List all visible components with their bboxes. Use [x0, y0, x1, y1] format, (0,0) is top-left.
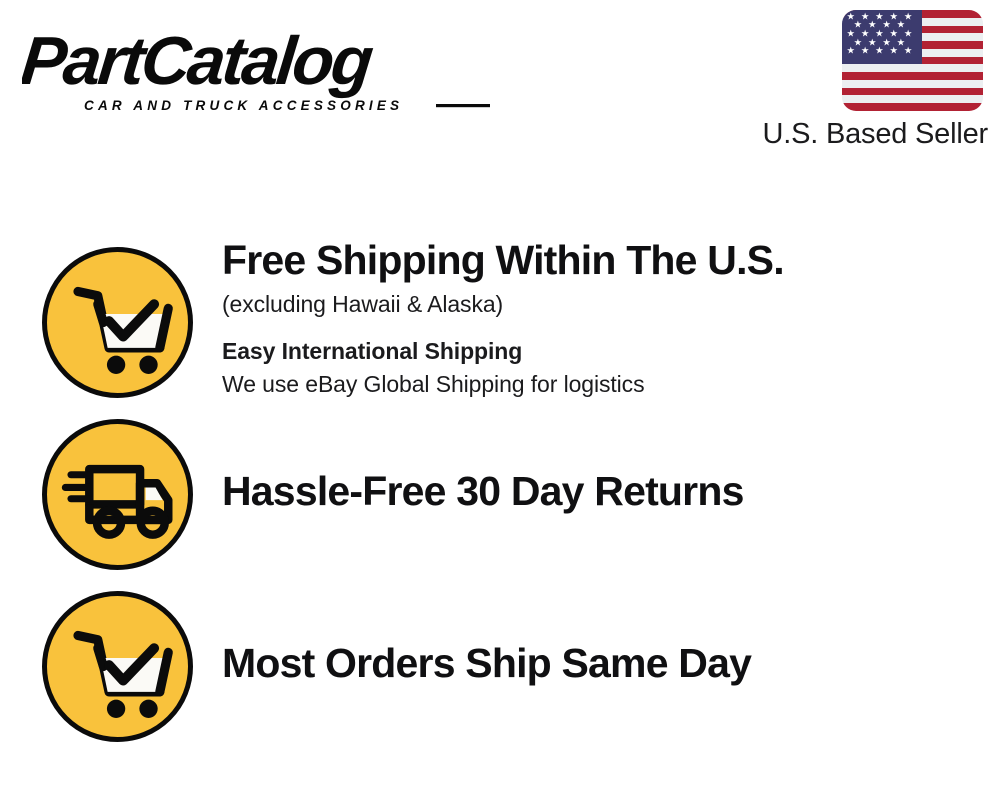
feature-text-block: Hassle-Free 30 Day Returns: [222, 419, 992, 513]
flag-stars: ★★ ★★ ★ ★★ ★★ ★★ ★★ ★ ★★ ★★ ★★ ★★ ★: [842, 10, 922, 64]
us-flag-icon: ★★ ★★ ★ ★★ ★★ ★★ ★★ ★ ★★ ★★ ★★ ★★ ★: [842, 10, 983, 111]
feature-headline: Free Shipping Within The U.S.: [222, 238, 992, 282]
promo-banner: PartCatalog CAR AND TRUCK ACCESSORIES ★★…: [0, 0, 1000, 800]
svg-text:PartCatalog: PartCatalog: [22, 23, 376, 99]
delivery-truck-icon: [42, 419, 193, 570]
intl-shipping-title: Easy International Shipping: [222, 337, 992, 366]
feature-subnote: (excluding Hawaii & Alaska): [222, 290, 992, 319]
seller-note: U.S. Based Seller: [720, 118, 988, 151]
intl-shipping-desc: We use eBay Global Shipping for logistic…: [222, 370, 992, 399]
svg-text:CAR AND TRUCK ACCESSORIES: CAR AND TRUCK ACCESSORIES: [84, 98, 403, 113]
feature-headline: Most Orders Ship Same Day: [222, 641, 992, 685]
feature-text-block: Free Shipping Within The U.S. (excluding…: [222, 247, 992, 399]
feature-headline: Hassle-Free 30 Day Returns: [222, 469, 992, 513]
feature-text-block: Most Orders Ship Same Day: [222, 591, 992, 685]
shopping-cart-check-icon: [42, 591, 193, 742]
shopping-cart-check-icon: [42, 247, 193, 398]
flag-canton: ★★ ★★ ★ ★★ ★★ ★★ ★★ ★ ★★ ★★ ★★ ★★ ★: [842, 10, 922, 64]
brand-logo: PartCatalog CAR AND TRUCK ACCESSORIES: [22, 18, 492, 118]
